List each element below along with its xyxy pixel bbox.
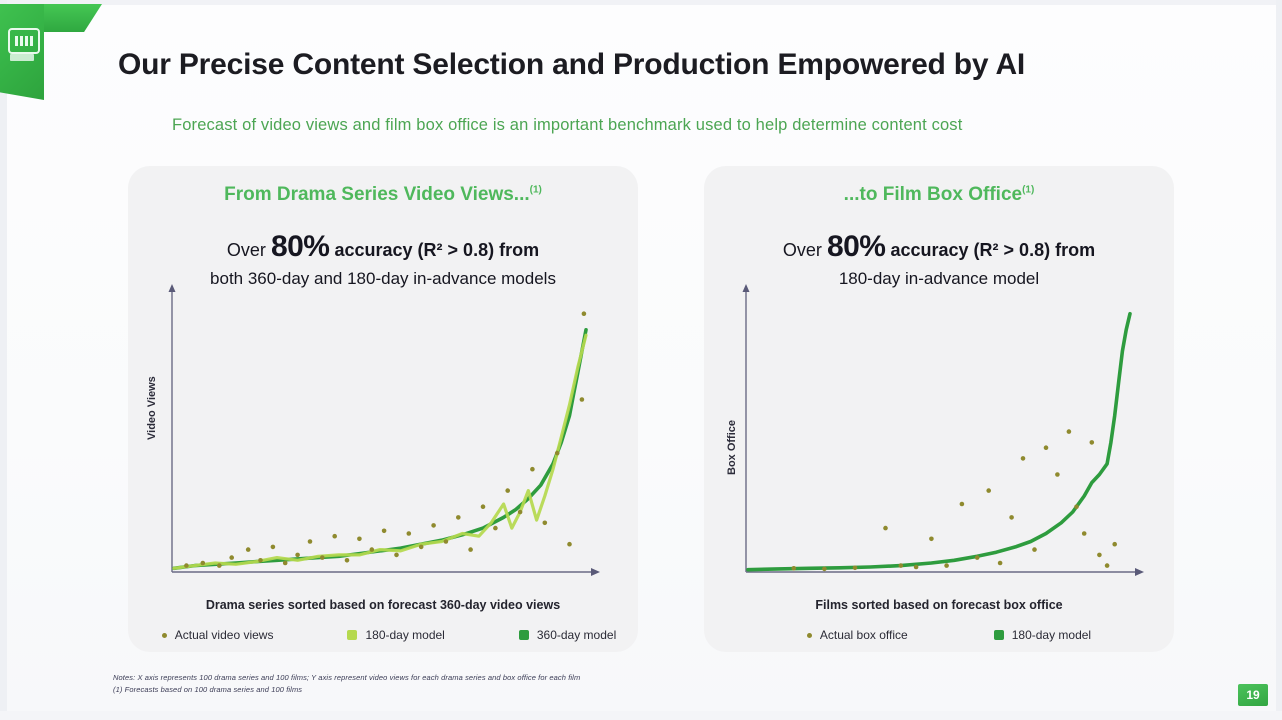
chart-left-yaxis-label: Video Views bbox=[146, 376, 158, 440]
series-point-actual-box-office bbox=[1009, 515, 1014, 520]
legend-item-actual-box-office[interactable]: Actual box office bbox=[807, 628, 908, 642]
series-point-actual-box-office bbox=[975, 555, 980, 560]
legend-label: Actual video views bbox=[175, 628, 274, 642]
panel-right-heading-footnote-ref: (1) bbox=[1022, 185, 1034, 196]
series-point-actual-box-office bbox=[1097, 553, 1102, 558]
series-point-actual-video-views bbox=[271, 545, 276, 550]
logo-ribbon-wing bbox=[38, 4, 102, 32]
series-point-actual-box-office bbox=[883, 526, 888, 531]
series-point-actual-box-office bbox=[986, 488, 991, 493]
legend-item-360-day-model[interactable]: 360-day model bbox=[519, 628, 616, 642]
series-point-actual-video-views bbox=[518, 510, 523, 515]
series-point-actual-video-views bbox=[419, 545, 424, 550]
chart-left-svg bbox=[158, 284, 608, 594]
series-line-180-day-model bbox=[748, 314, 1130, 570]
series-point-actual-video-views bbox=[229, 555, 234, 560]
panel-right-stat-value: 80% bbox=[827, 230, 886, 263]
series-point-actual-video-views bbox=[201, 561, 206, 566]
chart-right-svg bbox=[732, 284, 1152, 594]
series-point-actual-video-views bbox=[258, 558, 263, 563]
series-point-actual-video-views bbox=[580, 397, 585, 402]
series-point-actual-video-views bbox=[332, 534, 337, 539]
series-point-actual-box-office bbox=[1105, 563, 1110, 568]
y-axis-arrow-icon bbox=[743, 284, 750, 292]
chart-left-legend: Actual video views 180-day model 360-day… bbox=[128, 628, 644, 642]
chart-film-box-office bbox=[732, 284, 1152, 594]
series-point-actual-box-office bbox=[944, 563, 949, 568]
series-point-actual-video-views bbox=[217, 563, 222, 568]
series-point-actual-box-office bbox=[1082, 531, 1087, 536]
series-point-actual-box-office bbox=[1044, 445, 1049, 450]
legend-item-actual-video-views[interactable]: Actual video views bbox=[162, 628, 274, 642]
legend-dot-icon bbox=[807, 633, 812, 638]
footnote-line-1: Notes: X axis represents 100 drama serie… bbox=[113, 672, 873, 684]
panel-right-stat-mid: accuracy (R² > 0.8) from bbox=[885, 240, 1095, 260]
chart-right-xaxis-label: Films sorted based on forecast box offic… bbox=[704, 598, 1174, 612]
series-point-actual-video-views bbox=[320, 555, 325, 560]
series-point-actual-video-views bbox=[493, 526, 498, 531]
panel-left-stat-mid: accuracy (R² > 0.8) from bbox=[329, 240, 539, 260]
page-title: Our Precise Content Selection and Produc… bbox=[118, 48, 1178, 82]
chart-right-plot-group bbox=[748, 314, 1130, 572]
panel-right-heading: ...to Film Box Office(1) bbox=[704, 184, 1174, 206]
series-point-actual-video-views bbox=[407, 531, 412, 536]
legend-square-icon bbox=[347, 630, 357, 640]
series-point-actual-video-views bbox=[295, 553, 300, 558]
series-point-actual-video-views bbox=[543, 521, 548, 526]
series-point-actual-video-views bbox=[456, 515, 461, 520]
series-point-actual-box-office bbox=[853, 566, 858, 571]
legend-item-180-day-model[interactable]: 180-day model bbox=[994, 628, 1091, 642]
series-point-actual-box-office bbox=[1021, 456, 1026, 461]
series-point-actual-box-office bbox=[960, 502, 965, 507]
legend-item-180-day-model[interactable]: 180-day model bbox=[347, 628, 444, 642]
series-point-actual-box-office bbox=[1074, 504, 1079, 509]
chart-left-plot-group bbox=[174, 311, 586, 568]
series-point-actual-box-office bbox=[914, 565, 919, 570]
legend-dot-icon bbox=[162, 633, 167, 638]
series-line-180-day-model bbox=[174, 335, 586, 568]
series-point-actual-video-views bbox=[394, 553, 399, 558]
series-point-actual-video-views bbox=[530, 467, 535, 472]
legend-label: 360-day model bbox=[537, 628, 616, 642]
logo-ribbon-flag bbox=[0, 4, 44, 100]
series-point-actual-video-views bbox=[370, 547, 375, 552]
series-point-actual-video-views bbox=[481, 504, 486, 509]
logo-glyph-icon bbox=[8, 28, 40, 54]
panel-drama-series: From Drama Series Video Views...(1) Over… bbox=[128, 166, 638, 652]
legend-square-icon bbox=[994, 630, 1004, 640]
series-point-actual-box-office bbox=[998, 561, 1003, 566]
series-point-actual-video-views bbox=[382, 529, 387, 534]
x-axis-arrow-icon bbox=[591, 568, 600, 576]
legend-label: 180-day model bbox=[1012, 628, 1091, 642]
series-point-actual-video-views bbox=[555, 451, 560, 456]
series-point-actual-box-office bbox=[929, 537, 934, 542]
panel-right-stat-prefix: Over bbox=[783, 240, 827, 260]
series-point-actual-video-views bbox=[582, 311, 587, 316]
series-point-actual-video-views bbox=[444, 539, 449, 544]
panel-left-heading-footnote-ref: (1) bbox=[530, 185, 542, 196]
series-point-actual-box-office bbox=[1090, 440, 1095, 445]
company-logo bbox=[0, 0, 102, 104]
chart-right-legend: Actual box office 180-day model bbox=[704, 628, 1184, 642]
series-point-actual-box-office bbox=[1112, 542, 1117, 547]
panel-left-stat-value: 80% bbox=[271, 230, 330, 263]
panel-left-heading-text: From Drama Series Video Views... bbox=[224, 184, 530, 205]
series-point-actual-box-office bbox=[792, 566, 797, 571]
page-subtitle: Forecast of video views and film box off… bbox=[172, 116, 1202, 135]
panel-left-heading: From Drama Series Video Views...(1) bbox=[128, 184, 638, 206]
series-point-actual-video-views bbox=[505, 488, 510, 493]
series-point-actual-box-office bbox=[1055, 472, 1060, 477]
legend-square-icon bbox=[519, 630, 529, 640]
footnotes: Notes: X axis represents 100 drama serie… bbox=[113, 672, 873, 696]
slide-left-edge bbox=[0, 0, 7, 720]
series-point-actual-video-views bbox=[567, 542, 572, 547]
slide-top-edge bbox=[0, 0, 1282, 5]
y-axis-arrow-icon bbox=[169, 284, 176, 292]
series-point-actual-video-views bbox=[283, 561, 288, 566]
legend-label: 180-day model bbox=[365, 628, 444, 642]
series-point-actual-video-views bbox=[246, 547, 251, 552]
series-point-actual-video-views bbox=[308, 539, 313, 544]
chart-left-xaxis-label: Drama series sorted based on forecast 36… bbox=[128, 598, 638, 612]
series-point-actual-video-views bbox=[357, 537, 362, 542]
series-point-actual-box-office bbox=[822, 567, 827, 572]
series-point-actual-box-office bbox=[1067, 429, 1072, 434]
series-point-actual-video-views bbox=[468, 547, 473, 552]
panel-right-heading-text: ...to Film Box Office bbox=[844, 184, 1022, 205]
slide-right-edge bbox=[1276, 0, 1282, 720]
legend-label: Actual box office bbox=[820, 628, 908, 642]
series-line-360-day-model bbox=[174, 330, 586, 569]
series-point-actual-video-views bbox=[184, 563, 189, 568]
logo-subtext-bar bbox=[10, 54, 34, 61]
series-point-actual-box-office bbox=[1032, 547, 1037, 552]
panel-film-box-office: ...to Film Box Office(1) Over 80% accura… bbox=[704, 166, 1174, 652]
chart-right-yaxis-label: Box Office bbox=[726, 420, 738, 475]
series-point-actual-box-office bbox=[899, 563, 904, 568]
x-axis-arrow-icon bbox=[1135, 568, 1144, 576]
series-point-actual-video-views bbox=[345, 558, 350, 563]
page-number-badge: 19 bbox=[1238, 684, 1268, 706]
footnote-line-2: (1) Forecasts based on 100 drama series … bbox=[113, 684, 873, 696]
chart-drama-series-video-views bbox=[158, 284, 608, 594]
slide-bottom-edge bbox=[0, 711, 1282, 720]
panel-left-stat-prefix: Over bbox=[227, 240, 271, 260]
slide-canvas: Our Precise Content Selection and Produc… bbox=[0, 0, 1282, 720]
series-point-actual-video-views bbox=[431, 523, 436, 528]
